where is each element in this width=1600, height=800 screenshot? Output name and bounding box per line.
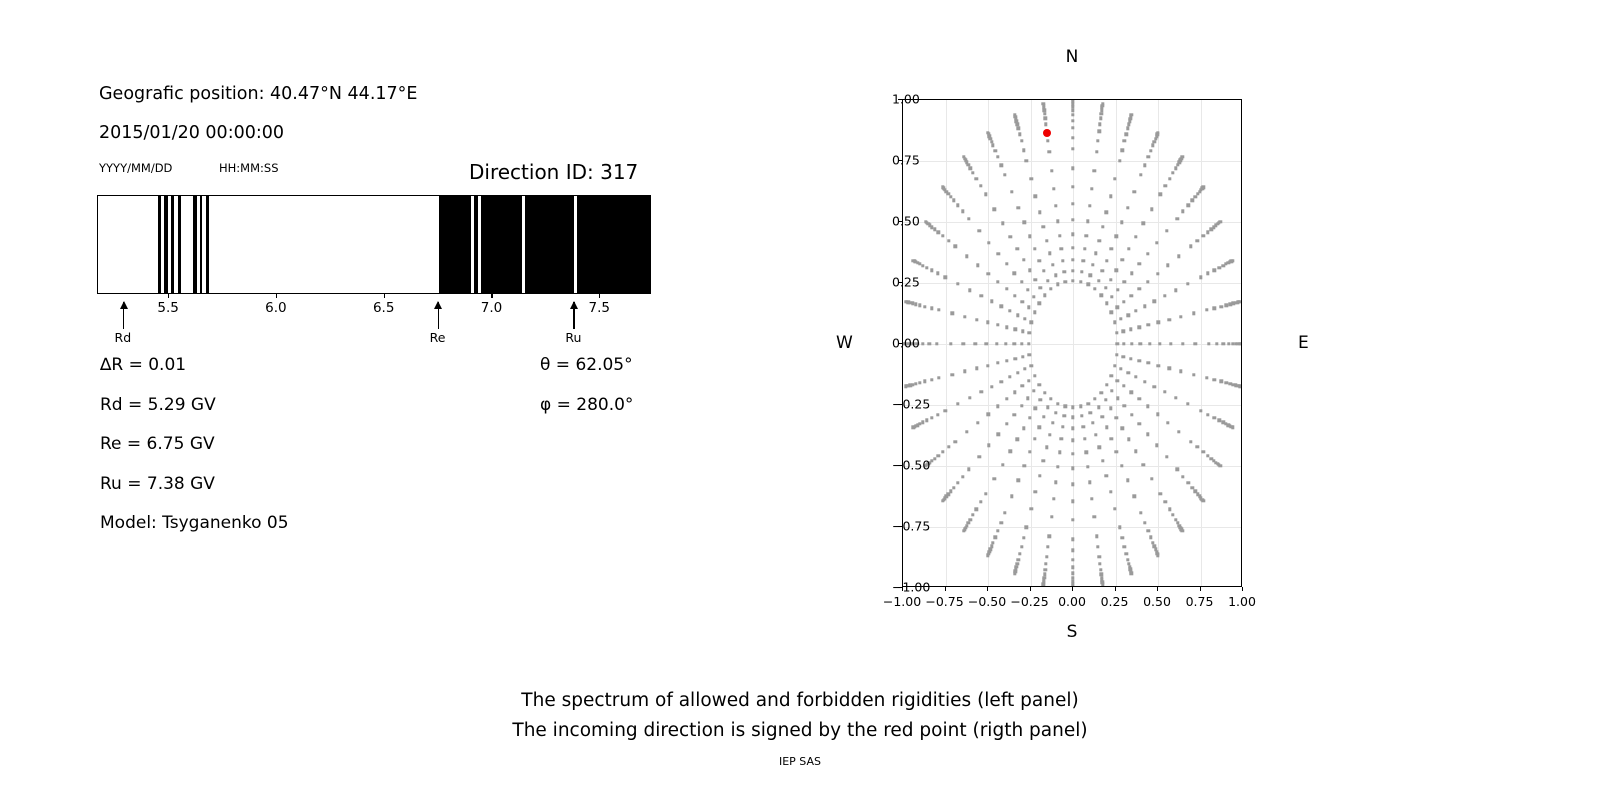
scatter-point: [1129, 328, 1132, 331]
scatter-point: [1205, 308, 1208, 311]
scatter-point: [1168, 177, 1171, 180]
scatter-point: [918, 381, 921, 384]
scatter-point: [912, 259, 915, 262]
scatter-point: [1056, 283, 1059, 286]
scatter-point: [1037, 383, 1040, 386]
scatter-point: [1071, 147, 1074, 150]
scatter-point: [1146, 280, 1149, 283]
scatter-point: [1105, 302, 1108, 305]
param-left-0: ∆R = 0.01: [100, 355, 186, 375]
scatter-point: [979, 294, 982, 297]
x-axis-tick-label: 0.50: [1143, 594, 1171, 609]
scatter-point: [1100, 391, 1103, 394]
scatter-point: [1110, 247, 1113, 250]
datetime-label: 2015/01/20 00:00:00: [99, 123, 284, 143]
scatter-point: [1110, 374, 1113, 377]
gridline-horizontal: [903, 161, 1241, 162]
gridline-vertical: [946, 100, 947, 586]
rigidity-tick-label: 6.5: [373, 300, 394, 316]
scatter-point: [1104, 286, 1107, 289]
rigidity-tick-label: 7.0: [481, 300, 502, 316]
scatter-point: [961, 475, 964, 478]
scatter-point: [1146, 252, 1149, 255]
scatter-point: [968, 396, 971, 399]
scatter-point: [1151, 144, 1154, 147]
scatter-point: [1138, 422, 1141, 425]
scatter-point: [1129, 390, 1132, 393]
scatter-point: [1186, 282, 1189, 285]
marker-label-ru: Ru: [565, 330, 581, 345]
scatter-point: [1008, 309, 1011, 312]
scatter-point: [1071, 415, 1074, 418]
scatter-point: [986, 364, 989, 367]
scatter-point: [1147, 323, 1150, 326]
scatter-point: [1168, 367, 1171, 370]
scatter-point: [1026, 396, 1029, 399]
scatter-point: [994, 536, 997, 539]
gridline-vertical: [1073, 100, 1074, 586]
scatter-point: [1022, 464, 1025, 467]
scatter-point: [1085, 450, 1088, 453]
scatter-point: [1016, 371, 1019, 374]
scatter-point: [1016, 438, 1019, 441]
rigidity-tick-label: 6.0: [265, 300, 286, 316]
scatter-point: [1094, 433, 1097, 436]
scatter-point: [937, 454, 940, 457]
scatter-point: [1060, 437, 1063, 440]
param-left-3: Ru = 7.38 GV: [100, 474, 215, 494]
scatter-point: [1048, 433, 1051, 436]
scatter-point: [1013, 294, 1016, 297]
scatter-point: [999, 305, 1002, 308]
scatter-point: [1115, 342, 1118, 345]
scatter-point: [1119, 367, 1122, 370]
scatter-point: [975, 367, 978, 370]
scatter-point: [963, 370, 966, 373]
scatter-point: [1093, 397, 1096, 400]
scatter-point: [1086, 283, 1089, 286]
scatter-point: [904, 385, 907, 388]
scatter-point: [1138, 397, 1141, 400]
scatter-point: [1071, 558, 1074, 561]
scatter-point: [1219, 305, 1222, 308]
scatter-point: [912, 426, 915, 429]
scatter-point: [1130, 342, 1133, 345]
scatter-point: [1100, 294, 1103, 297]
scatter-point: [918, 304, 921, 307]
scatter-point: [1101, 459, 1104, 462]
scatter-point: [1071, 126, 1074, 129]
scatter-point: [1142, 463, 1145, 466]
scatter-point: [1013, 113, 1016, 116]
scatter-point: [1115, 353, 1118, 356]
scatter-point: [1042, 583, 1045, 586]
scatter-point: [1179, 315, 1182, 318]
scatter-point: [1028, 353, 1031, 356]
scatter-point: [1181, 475, 1184, 478]
scatter-point: [1199, 409, 1202, 412]
scatter-point: [987, 272, 990, 275]
scatter-point: [1054, 204, 1057, 207]
scatter-point: [1028, 235, 1031, 238]
scatter-point: [1071, 218, 1074, 221]
scatter-point: [1156, 272, 1159, 275]
scatter-point: [1029, 507, 1032, 510]
scatter-point: [1079, 405, 1082, 408]
scatter-point: [1181, 529, 1184, 532]
scatter-point: [1118, 159, 1121, 162]
scatter-point: [986, 321, 989, 324]
rigidity-tick: [599, 294, 600, 298]
scatter-point: [1130, 413, 1133, 416]
scatter-point: [1090, 187, 1093, 190]
scatter-point: [1122, 342, 1125, 345]
scatter-point: [1177, 430, 1180, 433]
scatter-point: [1155, 443, 1158, 446]
x-axis-tick: [902, 587, 903, 591]
scatter-point: [923, 305, 926, 308]
scatter-point: [1080, 414, 1083, 417]
scatter-point: [1020, 280, 1023, 283]
scatter-point: [1039, 286, 1042, 289]
scatter-point: [1134, 309, 1137, 312]
gridline-horizontal: [903, 527, 1241, 528]
scatter-point: [1239, 385, 1242, 388]
x-axis-tick: [987, 587, 988, 591]
scatter-point: [1219, 464, 1222, 467]
scatter-point: [1122, 300, 1125, 303]
scatter-point: [1046, 279, 1049, 282]
scatter-point: [1060, 247, 1063, 250]
scatter-point: [952, 486, 955, 489]
scatter-point: [1032, 389, 1035, 392]
scatter-point: [1165, 229, 1168, 232]
compass-south: S: [1067, 622, 1078, 642]
scatter-point: [1071, 119, 1074, 122]
scatter-point: [1083, 247, 1086, 250]
marker-label-re: Re: [430, 330, 446, 345]
scatter-point: [1231, 426, 1234, 429]
scatter-point: [924, 220, 927, 223]
date-format-hint: YYYY/MM/DD: [99, 161, 172, 175]
scatter-point: [1126, 371, 1129, 374]
scatter-point: [1100, 112, 1103, 115]
scatter-point: [995, 342, 998, 345]
scatter-point: [1222, 342, 1225, 345]
scatter-point: [987, 241, 990, 244]
scatter-point: [1089, 411, 1092, 414]
scatter-point: [1008, 375, 1011, 378]
scatter-point: [1016, 479, 1019, 482]
scatter-point: [1110, 311, 1113, 314]
scatter-point: [1020, 342, 1023, 345]
scatter-point: [971, 513, 974, 516]
scatter-point: [1058, 450, 1061, 453]
scatter-point: [1071, 439, 1074, 442]
scatter-point: [978, 455, 981, 458]
rigidity-tick: [276, 294, 277, 298]
param-left-2: Re = 6.75 GV: [100, 434, 215, 454]
scatter-point: [941, 499, 944, 502]
scatter-point: [1138, 287, 1141, 290]
scatter-point: [930, 306, 933, 309]
scatter-point: [1127, 247, 1130, 250]
scatter-point: [1045, 445, 1048, 448]
scatter-point: [1101, 269, 1104, 272]
scatter-point: [1008, 450, 1011, 453]
x-axis-tick-label: 0.25: [1101, 594, 1129, 609]
scatter-point: [1027, 379, 1030, 382]
scatter-point: [1110, 437, 1113, 440]
scatter-point: [1155, 241, 1158, 244]
incoming-direction-point: [1043, 129, 1051, 137]
scatter-point: [1126, 479, 1129, 482]
scatter-point: [925, 266, 928, 269]
scatter-point: [1142, 222, 1145, 225]
rigidity-tick-label: 7.5: [589, 300, 610, 316]
scatter-point: [1149, 536, 1152, 539]
scatter-point: [1089, 274, 1092, 277]
scatter-point: [1143, 380, 1146, 383]
scatter-point: [986, 131, 989, 134]
scatter-point: [1143, 521, 1146, 524]
scatter-point: [921, 342, 924, 345]
scatter-point: [914, 302, 917, 305]
scatter-point: [1033, 247, 1036, 250]
scatter-point: [1093, 169, 1096, 172]
gridline-horizontal: [903, 283, 1241, 284]
scatter-point: [1101, 225, 1104, 228]
scatter-point: [1085, 234, 1088, 237]
scatter-point: [1207, 342, 1210, 345]
scatter-point: [1118, 526, 1121, 529]
scatter-point: [1130, 272, 1133, 275]
time-format-hint: HH:MM:SS: [219, 161, 279, 175]
scatter-point: [1123, 404, 1126, 407]
scatter-point: [1150, 208, 1153, 211]
gridline-horizontal: [903, 222, 1241, 223]
scatter-point: [996, 529, 999, 532]
scatter-point: [999, 380, 1002, 383]
scatter-point: [1071, 537, 1074, 540]
scatter-point: [1181, 342, 1184, 345]
x-axis-tick-label: −0.50: [968, 594, 1006, 609]
scatter-point: [1120, 536, 1123, 539]
scatter-point: [1020, 545, 1023, 548]
scatter-point: [1126, 127, 1129, 130]
scatter-point: [1120, 426, 1123, 429]
scatter-point: [1217, 266, 1220, 269]
scatter-point: [1005, 422, 1008, 425]
scatter-point: [1013, 572, 1016, 575]
scatter-point: [1217, 419, 1220, 422]
scatter-point: [1050, 515, 1053, 518]
scatter-point: [1202, 234, 1205, 237]
scatter-point: [1001, 222, 1004, 225]
scatter-point: [1174, 167, 1177, 170]
forbidden-band: [474, 195, 478, 294]
scatter-point: [996, 252, 999, 255]
scatter-point: [1008, 235, 1011, 238]
rigidity-tick-label: 5.5: [157, 300, 178, 316]
scatter-point: [1123, 545, 1126, 548]
scatter-point: [1105, 259, 1108, 262]
scatter-point: [1213, 416, 1216, 419]
scatter-point: [1039, 398, 1042, 401]
scatter-point: [1134, 375, 1137, 378]
scatter-point: [1190, 486, 1193, 489]
scatter-point: [937, 231, 940, 234]
scatter-point: [1083, 437, 1086, 440]
scatter-point: [1138, 262, 1141, 265]
scatter-point: [1042, 459, 1045, 462]
scatter-point: [1023, 317, 1026, 320]
forbidden-band: [193, 195, 196, 294]
scatter-point: [1013, 342, 1016, 345]
scatter-point: [1061, 259, 1064, 262]
scatter-point: [1219, 380, 1222, 383]
scatter-point: [1061, 425, 1064, 428]
scatter-point: [936, 413, 939, 416]
gridline-horizontal: [903, 344, 1241, 345]
x-axis-tick: [1157, 587, 1158, 591]
scatter-point: [925, 419, 928, 422]
forbidden-band: [206, 195, 209, 294]
scatter-point: [1028, 416, 1031, 419]
scatter-point: [993, 208, 996, 211]
scatter-point: [1045, 555, 1048, 558]
scatter-point: [1134, 450, 1137, 453]
scatter-point: [1021, 330, 1024, 333]
scatter-point: [962, 155, 965, 158]
scatter-point: [1033, 374, 1036, 377]
scatter-point: [1013, 413, 1016, 416]
scatter-point: [1080, 270, 1083, 273]
scatter-point: [1030, 321, 1033, 324]
marker-label-rd: Rd: [115, 330, 132, 345]
scatter-point: [1101, 102, 1104, 105]
scatter-point: [1120, 258, 1123, 261]
scatter-point: [1174, 396, 1177, 399]
scatter-point: [1079, 280, 1082, 283]
scatter-point: [961, 210, 964, 213]
scatter-point: [1071, 99, 1074, 102]
scatter-point: [943, 276, 946, 279]
caption-line-2: The incoming direction is signed by the …: [0, 716, 1600, 746]
scatter-point: [1051, 263, 1054, 266]
param-right-1: φ = 280.0°: [540, 395, 633, 415]
scatter-point: [1215, 342, 1218, 345]
scatter-point: [1165, 455, 1168, 458]
scatter-point: [1095, 150, 1098, 153]
scatter-point: [1094, 252, 1097, 255]
scatter-point: [1115, 331, 1118, 334]
scatter-point: [1097, 130, 1100, 133]
scatter-point: [1156, 412, 1159, 415]
scatter-point: [1003, 173, 1006, 176]
scatter-point: [1127, 123, 1130, 126]
scatter-point: [1003, 511, 1006, 514]
scatter-point: [1018, 133, 1021, 136]
scatter-point: [1206, 231, 1209, 234]
scatter-point: [962, 529, 965, 532]
scatter-point: [1044, 568, 1047, 571]
scatter-point: [941, 185, 944, 188]
scatter-point: [930, 268, 933, 271]
forbidden-band: [158, 195, 161, 294]
scatter-point: [1052, 187, 1055, 190]
param-left-1: Rd = 5.29 GV: [100, 395, 216, 415]
scatter-point: [1168, 318, 1171, 321]
scatter-point: [979, 184, 982, 187]
scatter-point: [1017, 558, 1020, 561]
scatter-point: [1115, 235, 1118, 238]
scatter-point: [1042, 269, 1045, 272]
scatter-point: [1046, 406, 1049, 409]
scatter-point: [1147, 155, 1150, 158]
scatter-point: [1016, 206, 1019, 209]
scatter-point: [1093, 287, 1096, 290]
scatter-point: [923, 380, 926, 383]
figure-caption: The spectrum of allowed and forbidden ri…: [0, 686, 1600, 746]
scatter-point: [1013, 390, 1016, 393]
scatter-point: [1114, 416, 1117, 419]
scatter-point: [976, 421, 979, 424]
scatter-point: [954, 440, 957, 443]
scatter-point: [1097, 279, 1100, 282]
scatter-point: [1017, 127, 1020, 130]
rigidity-spectrum-bar: [97, 195, 651, 294]
scatter-point: [1150, 477, 1153, 480]
scatter-point: [1071, 269, 1074, 272]
scatter-point: [956, 481, 959, 484]
scatter-point: [1071, 279, 1074, 282]
scatter-point: [1086, 465, 1089, 468]
scatter-point: [1046, 545, 1049, 548]
scatter-point: [1159, 193, 1162, 196]
geographic-position-label: Geografic position: 40.47°N 44.17°E: [99, 84, 417, 104]
scatter-point: [1086, 402, 1089, 405]
scatter-point: [1124, 552, 1127, 555]
scatter-point: [1030, 364, 1033, 367]
scatter-point: [1043, 294, 1046, 297]
scatter-point: [1043, 112, 1046, 115]
scatter-point: [1153, 140, 1156, 143]
gridline-vertical: [1201, 100, 1202, 586]
scatter-point: [1071, 566, 1074, 569]
scatter-point: [1115, 306, 1118, 309]
scatter-point: [1123, 280, 1126, 283]
scatter-point: [1097, 445, 1100, 448]
rigidity-tick: [491, 294, 492, 298]
scatter-point: [1014, 357, 1017, 360]
scatter-point: [1071, 500, 1074, 503]
scatter-point: [1071, 232, 1074, 235]
scatter-point: [1143, 164, 1146, 167]
marker-arrow-rd: [123, 302, 124, 329]
scatter-point: [990, 300, 993, 303]
scatter-point: [1116, 288, 1119, 291]
scatter-point: [1147, 361, 1150, 364]
scatter-point: [1174, 288, 1177, 291]
scatter-point: [996, 405, 999, 408]
scatter-point: [1022, 149, 1025, 152]
scatter-point: [1129, 113, 1132, 116]
footer-credit: IEP SAS: [0, 755, 1600, 768]
scatter-point: [1013, 272, 1016, 275]
scatter-point: [999, 164, 1002, 167]
scatter-point: [1071, 572, 1074, 575]
